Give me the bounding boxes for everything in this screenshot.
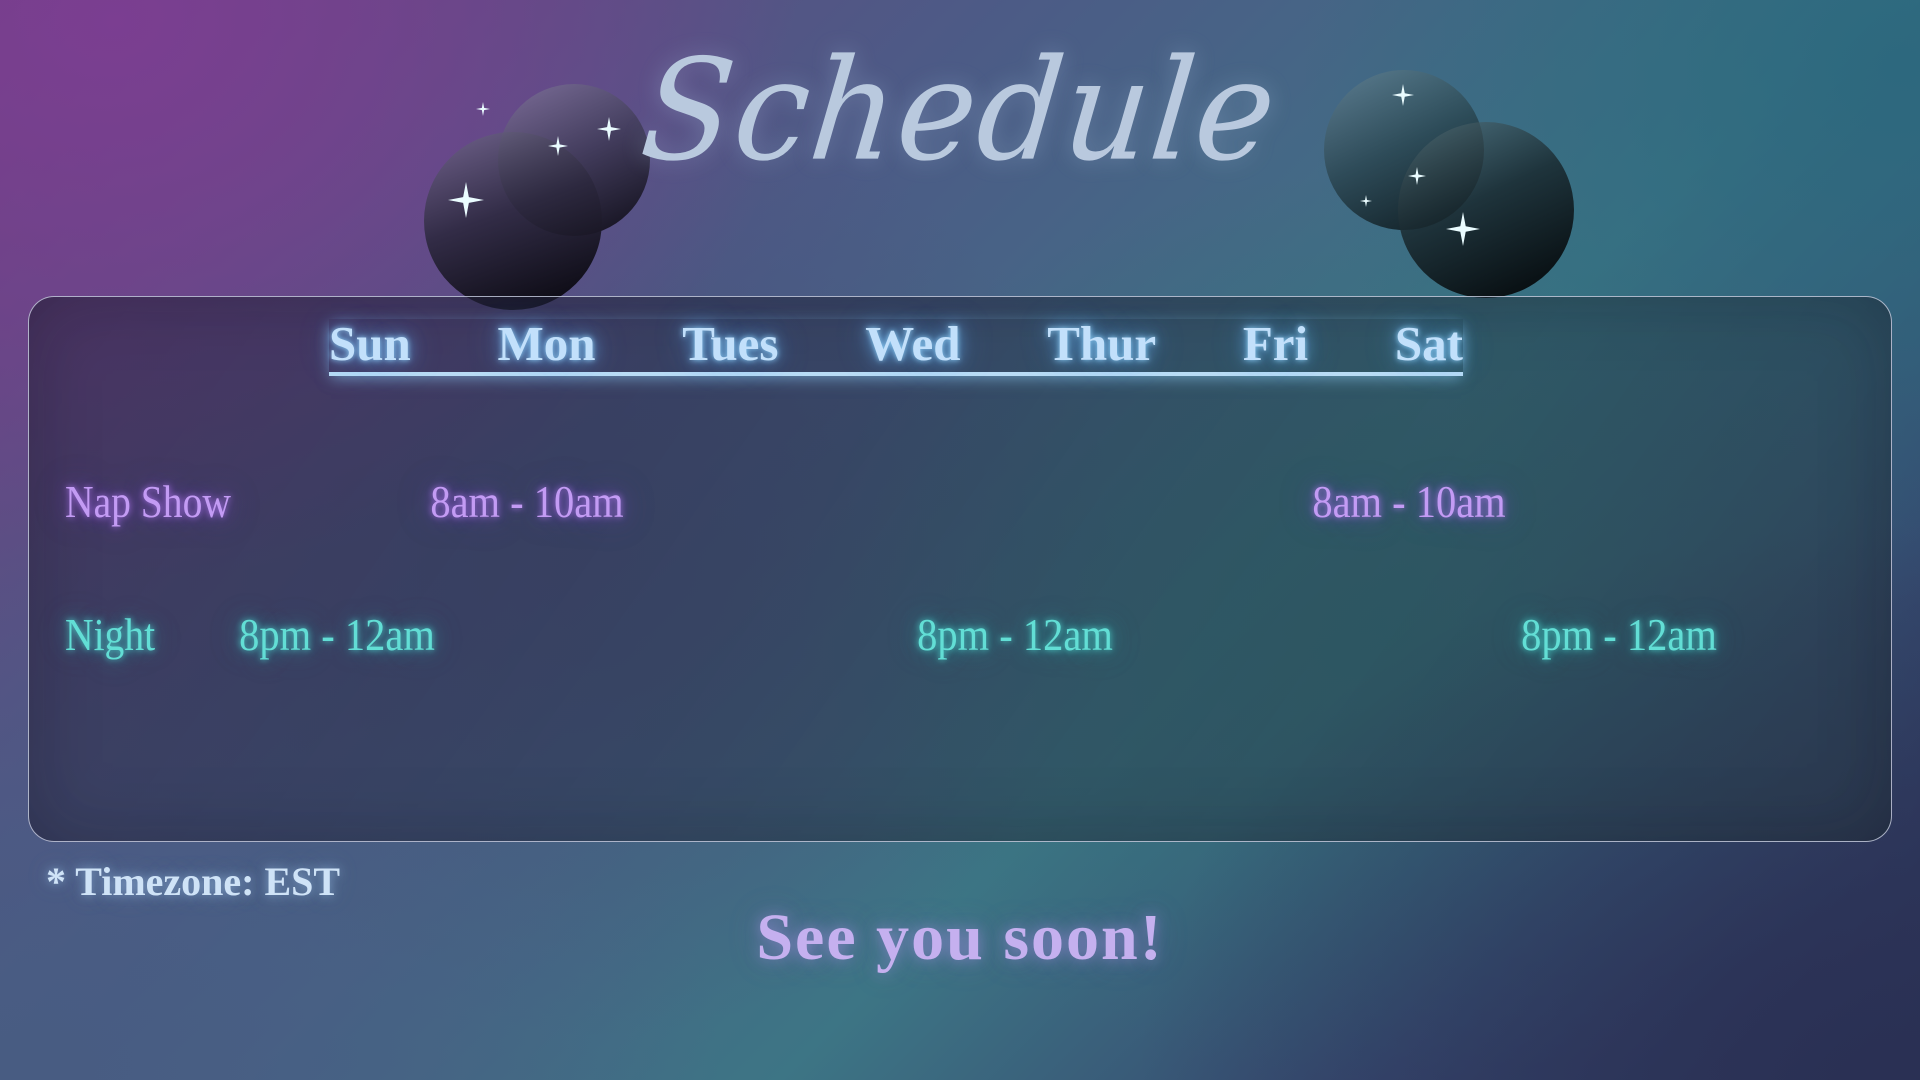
day-header-thur: Thur: [1047, 319, 1156, 368]
slot-night-sat: 8pm - 12am: [1478, 605, 1760, 665]
timezone-note: * Timezone: EST: [46, 858, 340, 905]
schedule-graphic: Schedule Sun Mon Tues Wed Thur Fri Sat N…: [0, 0, 1920, 1080]
day-header-fri: Fri: [1243, 319, 1308, 368]
schedule-row-nap-show: Nap Show 8am - 10am 8am - 10am: [29, 472, 1891, 532]
slot-night-wed: 8pm - 12am: [874, 605, 1156, 665]
row-label-night: Night: [65, 605, 155, 665]
page-title-wrap: Schedule: [0, 44, 1920, 179]
left-moon-orb-cluster: [420, 72, 690, 332]
day-header-tues: Tues: [682, 319, 778, 368]
day-header-sat: Sat: [1395, 319, 1463, 368]
schedule-row-night: Night 8pm - 12am 8pm - 12am 8pm - 12am: [29, 605, 1891, 665]
closing-message: See you soon!: [0, 900, 1920, 976]
slot-nap-show-mon: 8am - 10am: [386, 472, 668, 532]
orb-icon: [1398, 122, 1574, 298]
day-header-mon: Mon: [497, 319, 595, 368]
page-title: Schedule: [636, 40, 1284, 183]
row-label-nap-show: Nap Show: [65, 472, 231, 532]
orb-icon: [424, 132, 602, 310]
schedule-card: Sun Mon Tues Wed Thur Fri Sat Nap Show 8…: [28, 296, 1892, 842]
day-header-row: Sun Mon Tues Wed Thur Fri Sat: [329, 319, 1463, 376]
day-header-sun: Sun: [329, 319, 411, 368]
slot-night-sun: 8pm - 12am: [196, 605, 478, 665]
sparkle-icon: [476, 102, 490, 116]
slot-nap-show-fri: 8am - 10am: [1268, 472, 1550, 532]
day-header-wed: Wed: [865, 319, 960, 368]
right-moon-orb-cluster: [1320, 62, 1600, 322]
